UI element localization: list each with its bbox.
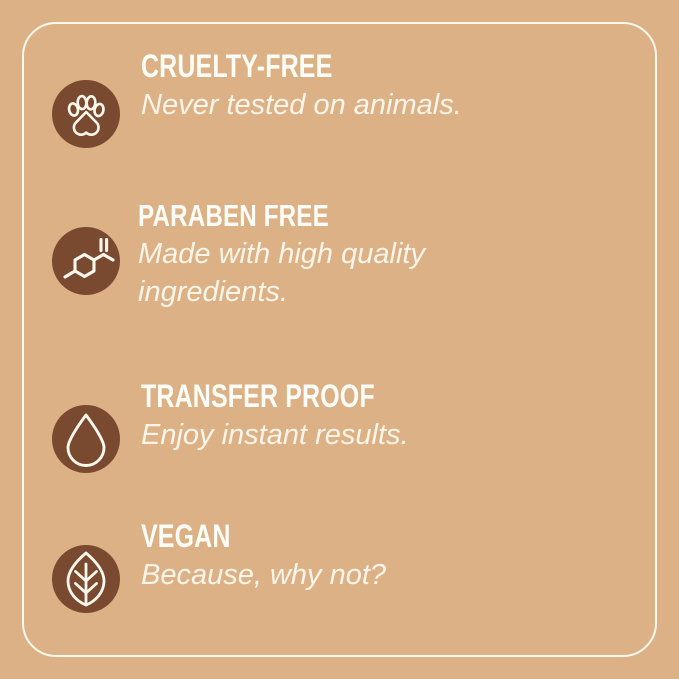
paw-icon <box>62 90 110 138</box>
feature-text-block: CRUELTY-FREE Never tested on animals. <box>120 50 639 124</box>
droplet-icon <box>63 412 109 466</box>
paw-icon-badge <box>52 80 120 148</box>
leaf-icon <box>63 551 109 607</box>
feature-text-block: VEGAN Because, why not? <box>120 520 639 594</box>
feature-subtitle: Made with high quality ingredients. <box>138 235 538 312</box>
feature-text-block: TRANSFER PROOF Enjoy instant results. <box>120 380 639 454</box>
feature-item-paraben-free: PARABEN FREE Made with high quality ingr… <box>52 205 639 311</box>
feature-title: VEGAN <box>141 520 529 553</box>
feature-item-vegan: VEGAN Because, why not? <box>52 525 639 613</box>
feature-title: CRUELTY-FREE <box>141 50 529 83</box>
feature-item-transfer-proof: TRANSFER PROOF Enjoy instant results. <box>52 385 639 473</box>
feature-list: CRUELTY-FREE Never tested on animals. <box>52 55 639 639</box>
feature-subtitle: Because, why not? <box>141 556 541 594</box>
feature-title: TRANSFER PROOF <box>141 380 529 413</box>
leaf-icon-badge <box>52 545 120 613</box>
feature-subtitle: Never tested on animals. <box>141 86 541 124</box>
feature-subtitle: Enjoy instant results. <box>141 416 541 454</box>
product-benefits-poster: CRUELTY-FREE Never tested on animals. <box>0 0 679 679</box>
molecule-icon-badge <box>52 227 120 295</box>
feature-item-cruelty-free: CRUELTY-FREE Never tested on animals. <box>52 55 639 148</box>
molecule-icon <box>61 236 119 290</box>
droplet-icon-badge <box>52 405 120 473</box>
feature-text-block: PARABEN FREE Made with high quality ingr… <box>120 200 639 311</box>
feature-title: PARABEN FREE <box>138 200 529 232</box>
